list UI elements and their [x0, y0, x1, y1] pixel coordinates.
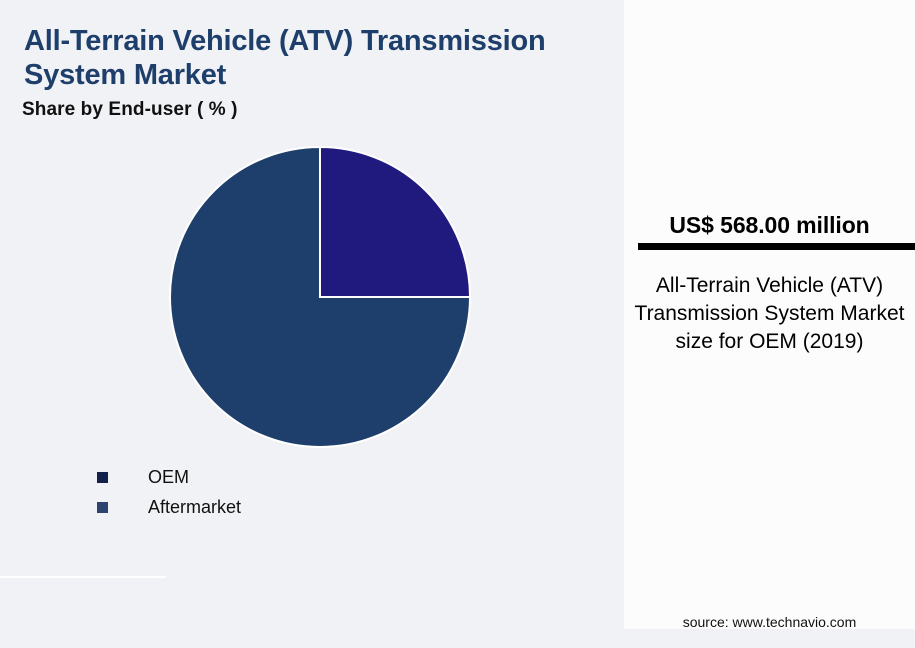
kpi-panel: US$ 568.00 million All-Terrain Vehicle (…	[624, 0, 915, 629]
footer-divider	[0, 576, 166, 578]
kpi-description: All-Terrain Vehicle (ATV) Transmission S…	[632, 272, 907, 356]
legend-swatch-oem	[97, 472, 108, 483]
legend-item-oem[interactable]: OEM	[97, 462, 517, 492]
chart-panel: All-Terrain Vehicle (ATV) Transmission S…	[0, 0, 622, 648]
chart-legend: OEM Aftermarket	[97, 462, 517, 522]
legend-item-aftermarket[interactable]: Aftermarket	[97, 492, 517, 522]
page-title: All-Terrain Vehicle (ATV) Transmission S…	[24, 24, 599, 92]
kpi-divider	[638, 243, 915, 250]
pie-slice-oem[interactable]	[320, 147, 470, 297]
legend-label-oem: OEM	[148, 467, 189, 488]
chart-subtitle: Share by End-user ( % )	[22, 99, 238, 121]
legend-label-aftermarket: Aftermarket	[148, 497, 241, 518]
legend-swatch-aftermarket	[97, 502, 108, 513]
kpi-value: US$ 568.00 million	[624, 212, 915, 239]
pie-chart	[170, 147, 470, 447]
source-note: source: www.technavio.com	[624, 614, 915, 630]
